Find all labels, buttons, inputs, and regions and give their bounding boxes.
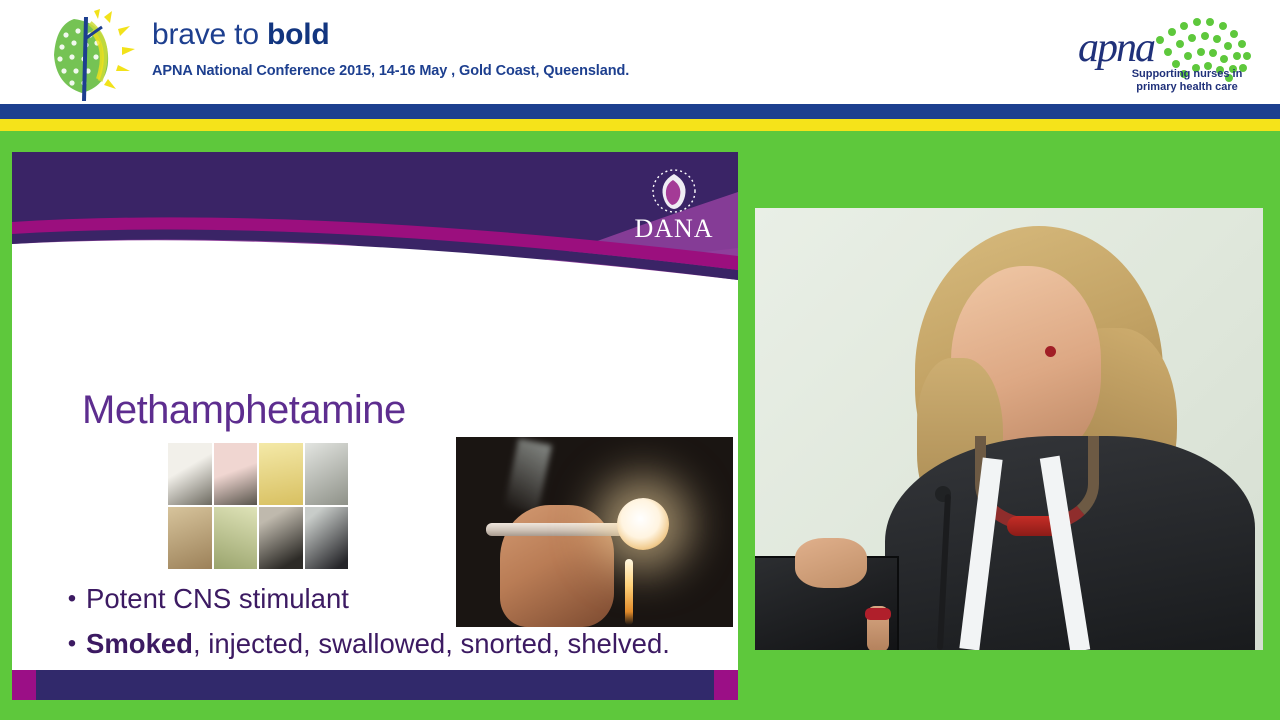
dana-wordmark: DANA: [628, 215, 720, 243]
conference-header: brave to bold APNA National Conference 2…: [0, 0, 1280, 104]
footer-cap-left: [12, 670, 36, 700]
bullet-rest: , injected, swallowed, snorted, shelved.: [193, 628, 670, 659]
slide-header-banner: DANA: [12, 152, 738, 284]
bullet-marker: •: [58, 621, 86, 666]
sample-cell: [259, 507, 303, 569]
brand-title-bold: bold: [267, 18, 330, 51]
header-yellow-stripe: [0, 119, 1280, 131]
sample-cell: [305, 443, 349, 505]
sample-cell: [168, 507, 212, 569]
apna-tree-icon: [34, 9, 138, 101]
speaker-earring: [1045, 346, 1056, 357]
speaker-video[interactable]: [755, 208, 1263, 650]
sample-cell: [259, 443, 303, 505]
bullet-bold-prefix: Smoked: [86, 628, 193, 659]
sample-cell: [305, 507, 349, 569]
list-item: • Potent CNS stimulant: [58, 576, 698, 621]
brand-block: brave to bold APNA National Conference 2…: [152, 18, 629, 79]
sample-cell: [168, 443, 212, 505]
list-item: • Smoked, injected, swallowed, snorted, …: [58, 621, 698, 666]
sample-cell: [214, 507, 258, 569]
apna-logo: apna Supporting nurses in primary health…: [1056, 6, 1266, 102]
apna-wordmark: apna: [1078, 24, 1154, 72]
drug-sample-grid: [168, 443, 348, 569]
bullet-text: Smoked, injected, swallowed, snorted, sh…: [86, 621, 698, 666]
glass-pipe-stem: [486, 523, 633, 536]
brand-title: brave to bold: [152, 18, 629, 52]
footer-cap-right: [714, 670, 738, 700]
conference-subtitle: APNA National Conference 2015, 14-16 May…: [152, 63, 629, 79]
sample-cell: [214, 443, 258, 505]
speaker-bracelet: [865, 608, 891, 620]
pipe-bulb-glow: [617, 498, 669, 550]
dana-logo: DANA: [628, 168, 720, 246]
slide-footer-bar: [12, 670, 738, 700]
speaker-hand: [795, 538, 867, 588]
smoke-wisp: [504, 438, 552, 514]
presentation-slide[interactable]: DANA Methamphetamine • Potent CNS stimul…: [12, 152, 738, 700]
dana-emblem-icon: [651, 168, 697, 214]
apna-tagline: Supporting nurses in primary health care: [1112, 68, 1262, 94]
brand-title-main: brave to: [152, 18, 267, 51]
slide-title: Methamphetamine: [82, 388, 406, 433]
bullet-text: Potent CNS stimulant: [86, 576, 698, 621]
header-blue-stripe: [0, 104, 1280, 119]
bullet-marker: •: [58, 576, 86, 621]
